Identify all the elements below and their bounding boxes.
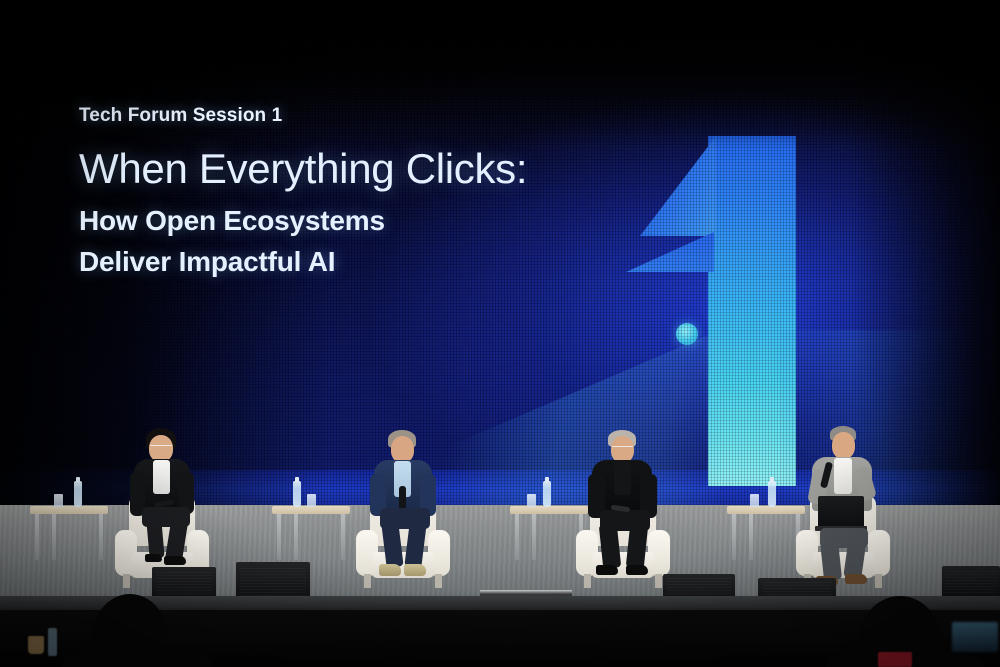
speaker-grille — [156, 572, 212, 598]
panelist-head — [832, 432, 855, 459]
audience-red-lanyard — [878, 652, 912, 667]
slide-headline: When Everything Clicks: — [79, 147, 599, 191]
slide-subline-2: Deliver Impactful AI — [79, 246, 599, 277]
panelist-3 — [578, 428, 674, 590]
water-bottle — [74, 481, 82, 507]
table-top — [727, 506, 805, 514]
table-leg — [277, 514, 281, 560]
panelist-shirt — [614, 461, 631, 495]
slide-title-block: Tech Forum Session 1 When Everything Cli… — [79, 106, 599, 288]
table-leg — [35, 514, 39, 560]
table-leg — [52, 514, 56, 560]
panelist-sneaker — [404, 564, 426, 576]
water-bottle — [543, 481, 551, 507]
panelist-shirt — [834, 458, 852, 494]
panelist-4 — [798, 424, 894, 590]
table-leg — [532, 514, 536, 560]
side-table-1 — [30, 506, 108, 560]
speaker-grille — [240, 568, 305, 598]
laptop — [818, 496, 864, 528]
table-leg — [99, 514, 103, 560]
drinking-glass — [527, 494, 536, 507]
panelist-shoe — [145, 554, 162, 562]
panelist-leg-crossed — [626, 523, 649, 569]
table-leg — [749, 514, 753, 560]
table-top — [30, 506, 108, 514]
panelist-sneaker — [379, 564, 401, 576]
panelist-leg-crossed — [146, 519, 164, 558]
eyeglasses-icon — [612, 446, 633, 451]
panelist-head — [391, 436, 414, 463]
audience-silhouette-body-left — [62, 648, 212, 667]
conference-stage-photo: Tech Forum Session 1 When Everything Cli… — [0, 0, 1000, 667]
panelist-2 — [358, 428, 454, 590]
speaker-grille — [945, 571, 996, 595]
panelist-1 — [118, 428, 214, 588]
table-leg — [515, 514, 519, 560]
stage-floor-monitor-5 — [942, 566, 1000, 600]
water-bottle — [293, 481, 301, 507]
eyeglasses-icon — [150, 445, 172, 450]
audience-laptop-screen-glow — [952, 622, 998, 652]
water-bottle-foreground — [48, 628, 57, 656]
slide-eyebrow: Tech Forum Session 1 — [79, 106, 599, 125]
panelist-shoe — [845, 574, 867, 584]
side-table-4 — [727, 506, 805, 560]
coffee-mug — [28, 636, 44, 654]
table-top — [272, 506, 350, 514]
table-leg — [732, 514, 736, 560]
drinking-glass — [307, 494, 316, 507]
panelist-shoe — [164, 556, 186, 565]
drinking-glass — [750, 494, 759, 507]
panelist-shoe — [626, 565, 648, 575]
table-leg — [294, 514, 298, 560]
slide-subline-1: How Open Ecosystems — [79, 205, 599, 236]
side-table-2 — [272, 506, 350, 560]
panelist-shoe — [596, 565, 618, 575]
table-leg — [341, 514, 345, 560]
water-bottle — [768, 481, 776, 507]
drinking-glass — [54, 494, 63, 507]
panelist-shirt — [153, 460, 170, 494]
